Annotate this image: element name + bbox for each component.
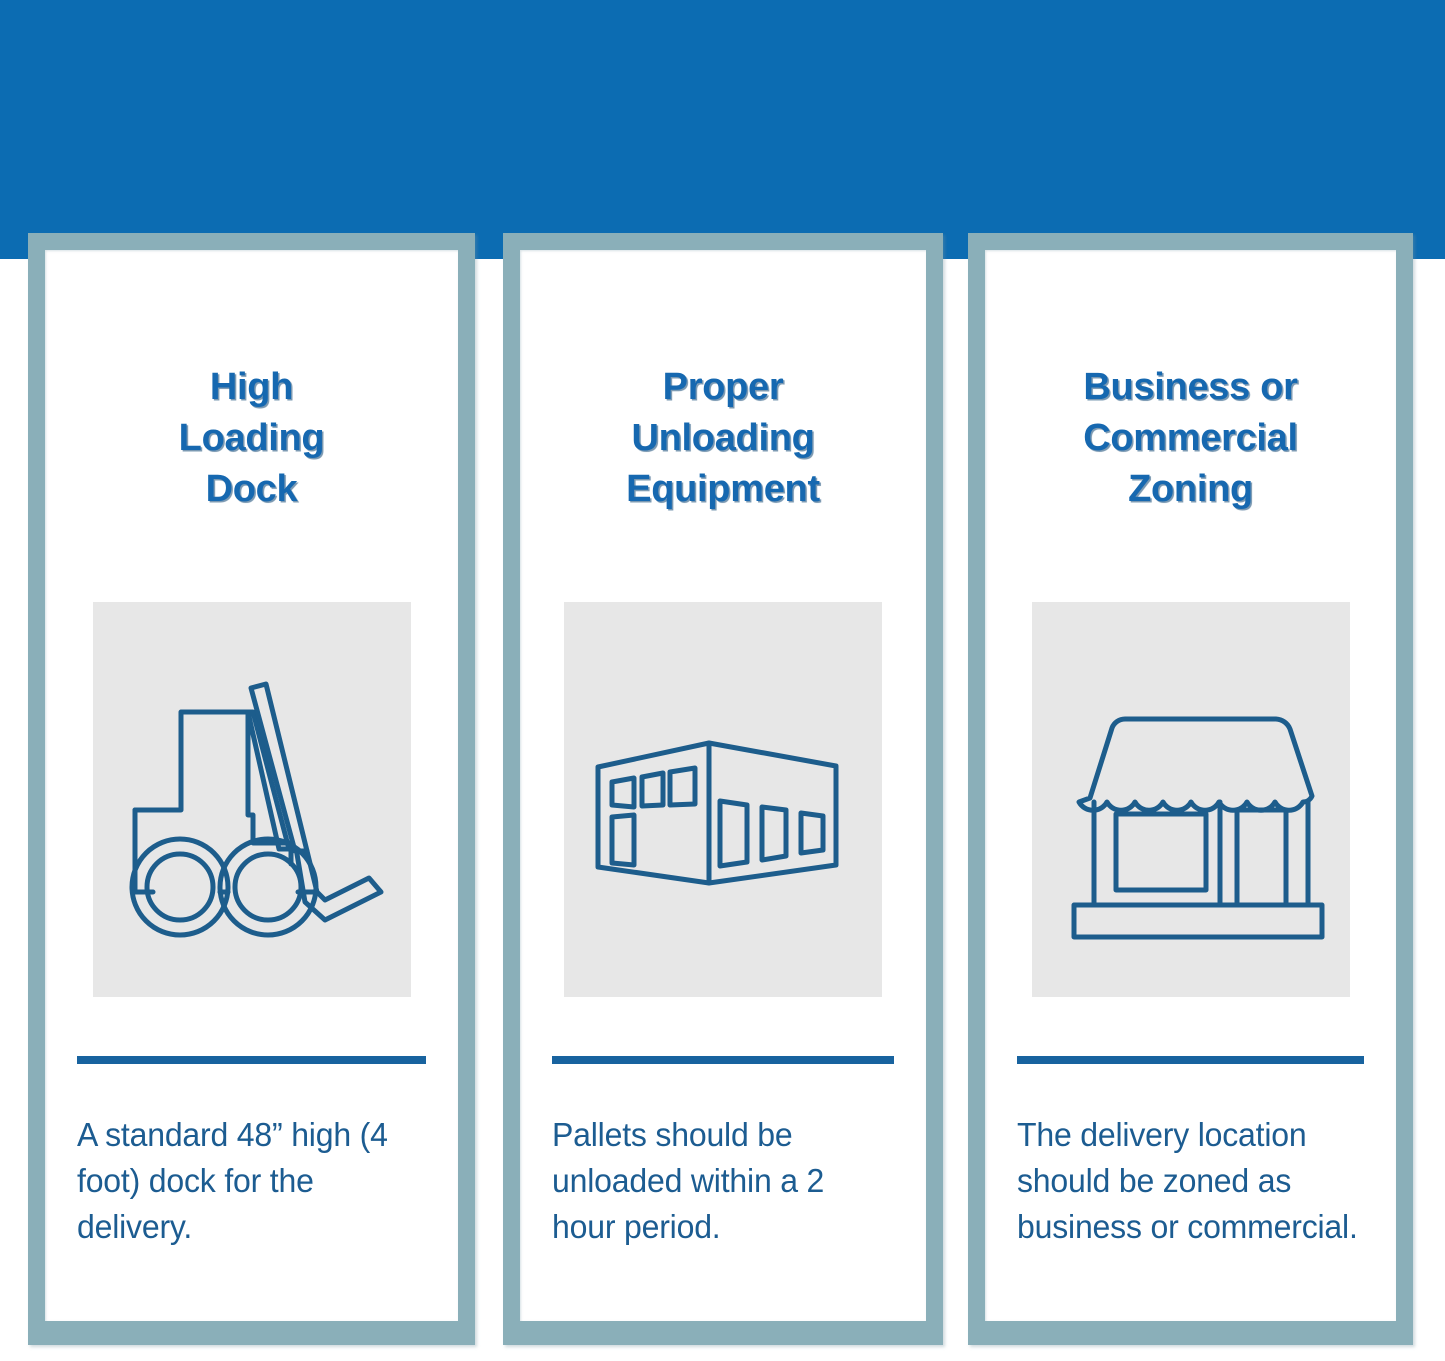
card-inner: Proper Unloading Equipment: [520, 250, 926, 1321]
requirements-card-row: High Loading Dock: [0, 233, 1445, 1361]
icon-box: [564, 602, 882, 997]
card-body-text: Pallets should be unloaded within a 2 ho…: [552, 1112, 895, 1250]
icon-box: [1032, 602, 1350, 997]
card-heading: Proper Unloading Equipment: [526, 362, 920, 515]
card-heading: High Loading Dock: [51, 362, 452, 515]
storefront-icon: [1032, 602, 1350, 997]
header-banner: [0, 0, 1445, 233]
card-body-text: The delivery location should be zoned as…: [1017, 1112, 1365, 1250]
forklift-icon: [93, 602, 411, 997]
card-divider: [1017, 1056, 1364, 1064]
card-divider: [552, 1056, 894, 1064]
requirement-card-high-loading-dock: High Loading Dock: [28, 233, 475, 1345]
requirement-card-business-commercial-zoning: Business or Commercial Zoning: [968, 233, 1413, 1345]
requirement-card-proper-unloading-equipment: Proper Unloading Equipment: [503, 233, 943, 1345]
card-divider: [77, 1056, 426, 1064]
warehouse-building-icon: [564, 602, 882, 997]
card-inner: High Loading Dock: [45, 250, 458, 1321]
card-body-text: A standard 48” high (4 foot) dock for th…: [77, 1112, 427, 1250]
card-heading: Business or Commercial Zoning: [991, 362, 1390, 515]
card-inner: Business or Commercial Zoning: [985, 250, 1396, 1321]
icon-box: [93, 602, 411, 997]
